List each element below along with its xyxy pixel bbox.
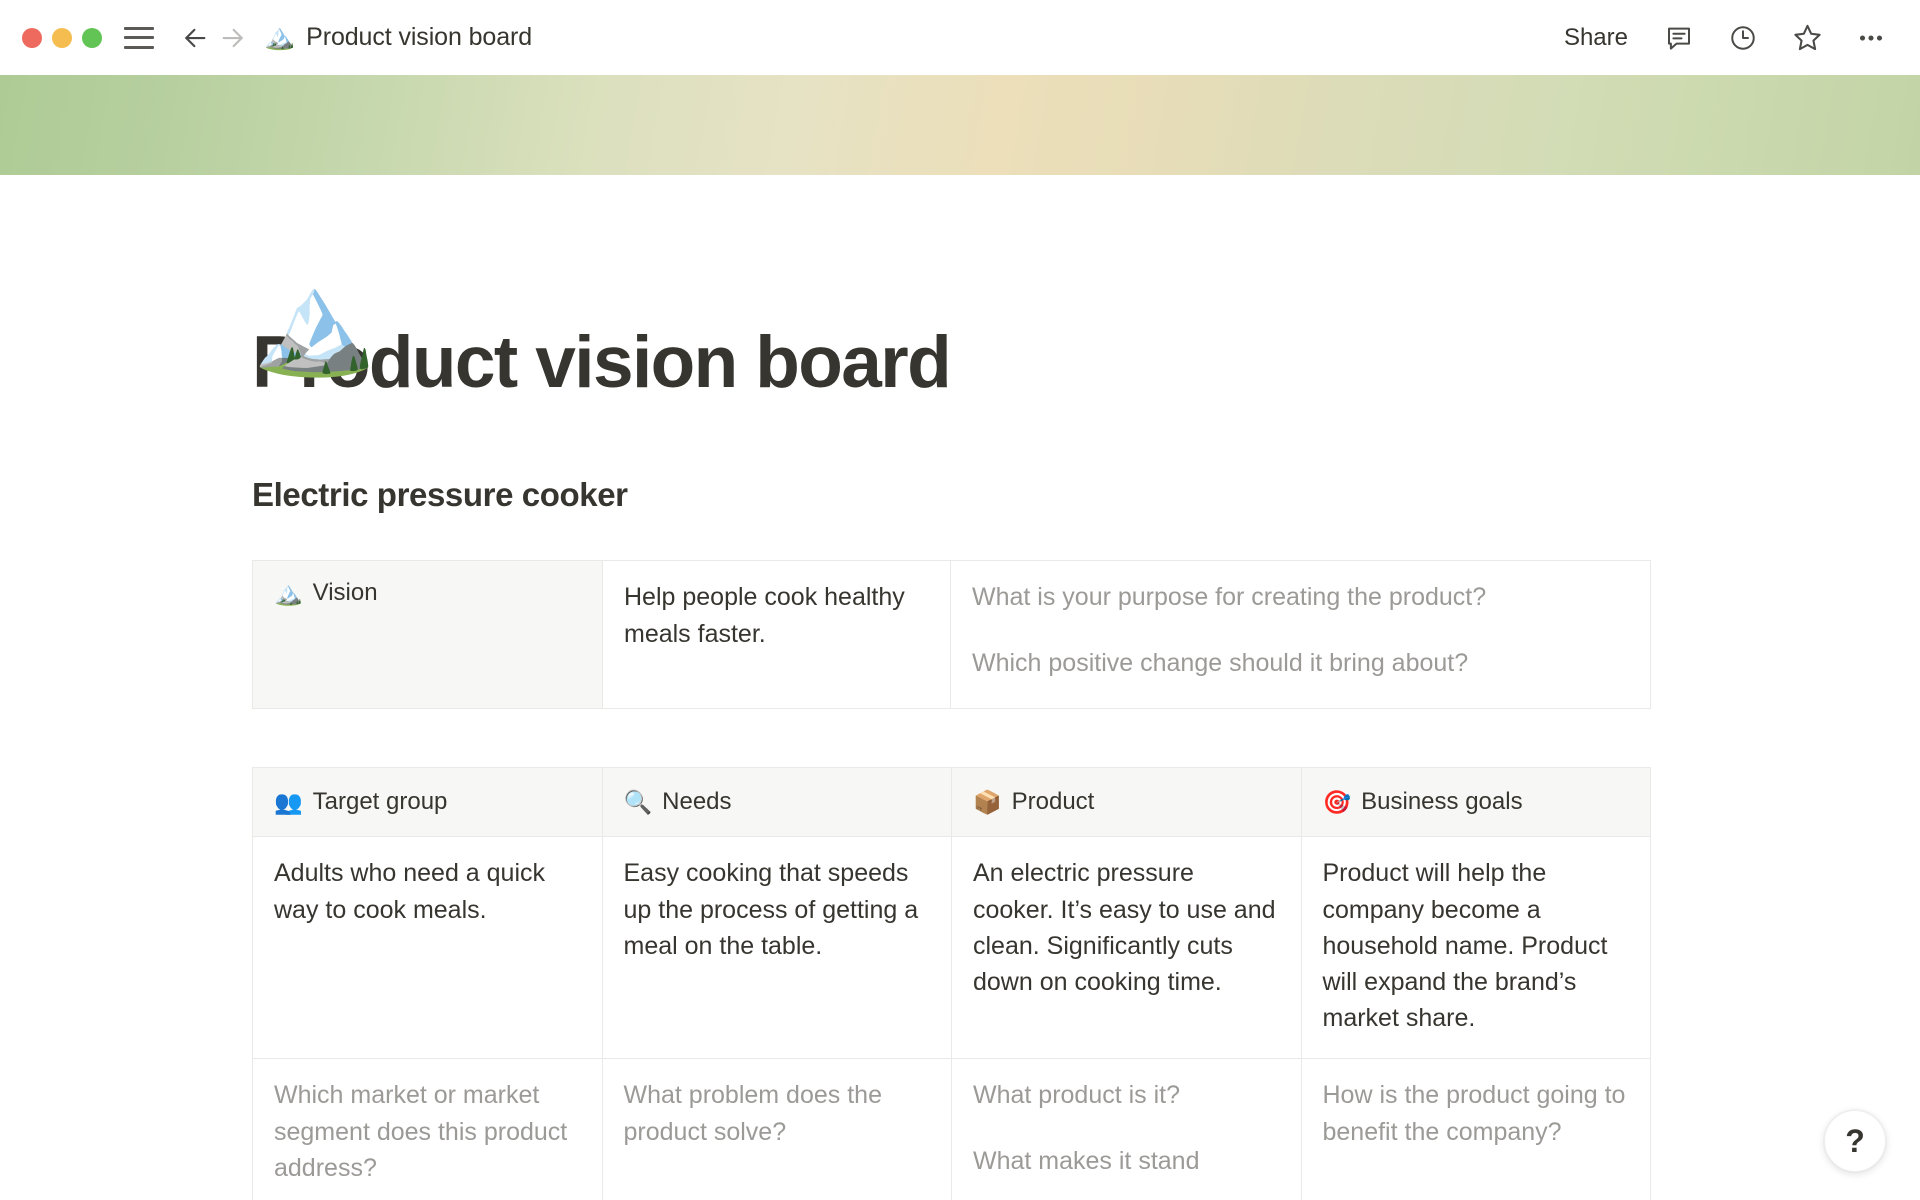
column-header-product[interactable]: 📦 Product: [952, 768, 1302, 837]
share-button[interactable]: Share: [1558, 20, 1634, 56]
cell-needs-content[interactable]: Easy cooking that speeds up the process …: [602, 837, 952, 1059]
cell-product-content[interactable]: An electric pressure cooker. It’s easy t…: [952, 837, 1302, 1059]
hint-line-2: What makes it stand: [973, 1143, 1280, 1179]
column-header-label: Target group: [313, 788, 448, 816]
column-header-label: Product: [1012, 788, 1095, 816]
page-content: 🏔️ Product vision board Electric pressur…: [0, 323, 1920, 1200]
sidebar-toggle-icon[interactable]: [124, 27, 154, 49]
hamburger-line: [124, 27, 154, 30]
column-header-label: Needs: [662, 788, 731, 816]
arrow-right-icon[interactable]: [214, 19, 252, 57]
column-header-target-group[interactable]: 👥 Target group: [253, 768, 603, 837]
more-horizontal-icon[interactable]: [1852, 19, 1890, 57]
vision-value-cell[interactable]: Help people cook healthy meals faster.: [603, 561, 951, 709]
close-window-button[interactable]: [22, 28, 42, 48]
vision-table: 🏔️ Vision Help people cook healthy meals…: [252, 560, 1651, 709]
direct-hit-icon: 🎯: [1323, 791, 1352, 814]
cell-target-group-hint[interactable]: Which market or market segment does this…: [253, 1059, 603, 1200]
cell-business-goals-hint[interactable]: How is the product going to benefit the …: [1301, 1059, 1651, 1200]
table-row: 🏔️ Vision Help people cook healthy meals…: [253, 561, 1651, 709]
page-icon-mountain-icon[interactable]: 🏔️: [252, 273, 377, 373]
table-header-row: 👥 Target group 🔍 Needs 📦 Product: [253, 768, 1651, 837]
vision-board-grid-table: 👥 Target group 🔍 Needs 📦 Product: [252, 767, 1651, 1200]
page-title[interactable]: Product vision board: [252, 323, 1920, 403]
mountain-icon: 🏔️: [264, 25, 295, 50]
section-heading[interactable]: Electric pressure cooker: [252, 476, 1920, 514]
breadcrumb-title: Product vision board: [306, 23, 532, 52]
help-button[interactable]: ?: [1824, 1110, 1886, 1172]
vision-hint-2: Which positive change should it bring ab…: [972, 645, 1629, 681]
vision-hint-cell[interactable]: What is your purpose for creating the pr…: [951, 561, 1651, 709]
minimize-window-button[interactable]: [52, 28, 72, 48]
column-header-needs[interactable]: 🔍 Needs: [602, 768, 952, 837]
table-row: Which market or market segment does this…: [253, 1059, 1651, 1200]
cell-needs-hint[interactable]: What problem does the product solve?: [602, 1059, 952, 1200]
cell-product-hint[interactable]: What product is it? What makes it stand: [952, 1059, 1302, 1200]
vision-label: Vision: [313, 579, 378, 607]
maximize-window-button[interactable]: [82, 28, 102, 48]
package-icon: 📦: [973, 791, 1002, 814]
page-cover-image[interactable]: [0, 75, 1920, 175]
arrow-left-icon[interactable]: [176, 19, 214, 57]
table-row: Adults who need a quick way to cook meal…: [253, 837, 1651, 1059]
hamburger-line: [124, 36, 154, 39]
column-header-label: Business goals: [1361, 788, 1522, 816]
busts-in-silhouette-icon: 👥: [274, 791, 303, 814]
magnifying-glass-icon: 🔍: [624, 791, 653, 814]
window-titlebar: 🏔️ Product vision board Share: [0, 0, 1920, 75]
cell-target-group-content[interactable]: Adults who need a quick way to cook meal…: [253, 837, 603, 1059]
hamburger-line: [124, 46, 154, 49]
cell-business-goals-content[interactable]: Product will help the company become a h…: [1301, 837, 1651, 1059]
clock-icon[interactable]: [1724, 19, 1762, 57]
titlebar-actions: Share: [1558, 19, 1890, 57]
star-icon[interactable]: [1788, 19, 1826, 57]
mountain-icon: 🏔️: [274, 582, 303, 605]
comment-icon[interactable]: [1660, 19, 1698, 57]
vision-label-cell[interactable]: 🏔️ Vision: [253, 561, 603, 709]
breadcrumb[interactable]: 🏔️ Product vision board: [264, 23, 532, 52]
column-header-business-goals[interactable]: 🎯 Business goals: [1301, 768, 1651, 837]
hint-text-2: company?: [1446, 1118, 1561, 1146]
vision-hint-1: What is your purpose for creating the pr…: [972, 579, 1629, 615]
hint-line-1: What product is it?: [973, 1077, 1280, 1113]
window-traffic-lights: [22, 28, 102, 48]
